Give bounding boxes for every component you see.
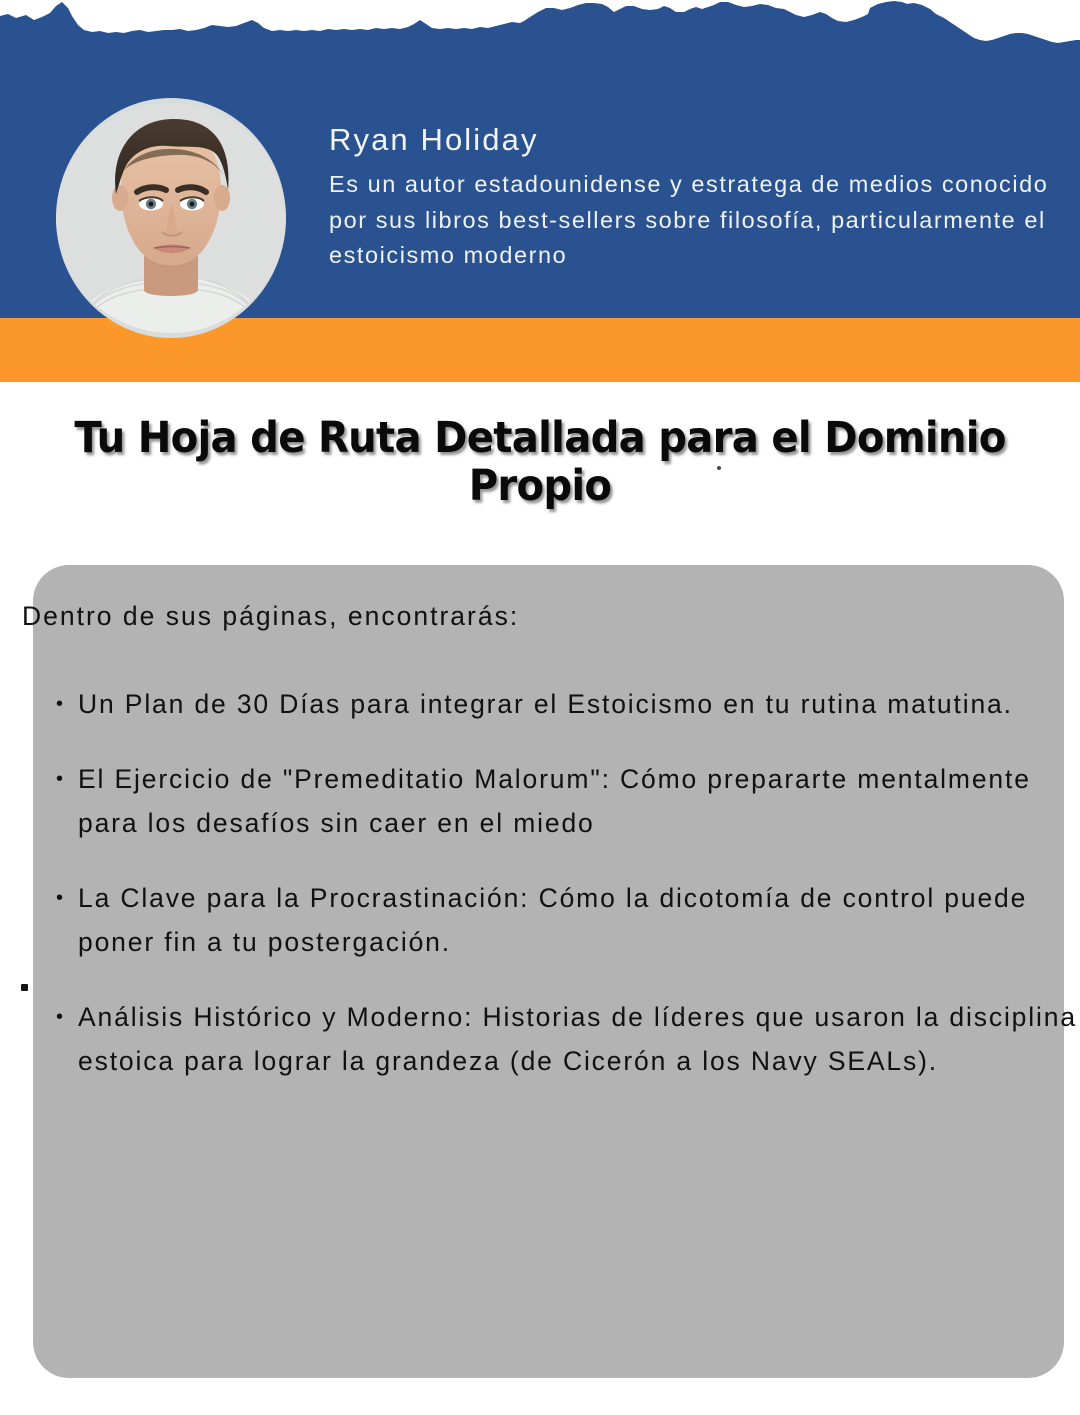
author-name: Ryan Holiday xyxy=(329,120,1069,160)
list-item: La Clave para la Procrastinación: Cómo l… xyxy=(20,876,1080,964)
feature-list: Un Plan de 30 Días para integrar el Esto… xyxy=(20,682,1080,1114)
list-item: El Ejercicio de "Premeditatio Malorum": … xyxy=(20,757,1080,845)
content-body: Dentro de sus páginas, encontrarás: Un P… xyxy=(20,565,1080,1378)
avatar xyxy=(56,98,286,338)
list-item: Análisis Histórico y Moderno: Historias … xyxy=(20,995,1080,1083)
scan-artifact-dot xyxy=(717,466,721,470)
list-item: Un Plan de 30 Días para integrar el Esto… xyxy=(20,682,1080,726)
scan-artifact-dot xyxy=(21,984,28,991)
poster-page: Ryan Holiday Es un autor estadounidense … xyxy=(0,0,1080,1415)
intro-text: Dentro de sus páginas, encontrarás: xyxy=(22,601,519,633)
page-title: Tu Hoja de Ruta Detallada para el Domini… xyxy=(35,414,1045,510)
avatar-portrait-image xyxy=(56,98,286,338)
author-bio: Es un autor estadounidense y estratega d… xyxy=(329,167,1069,274)
author-info: Ryan Holiday Es un autor estadounidense … xyxy=(329,120,1069,274)
